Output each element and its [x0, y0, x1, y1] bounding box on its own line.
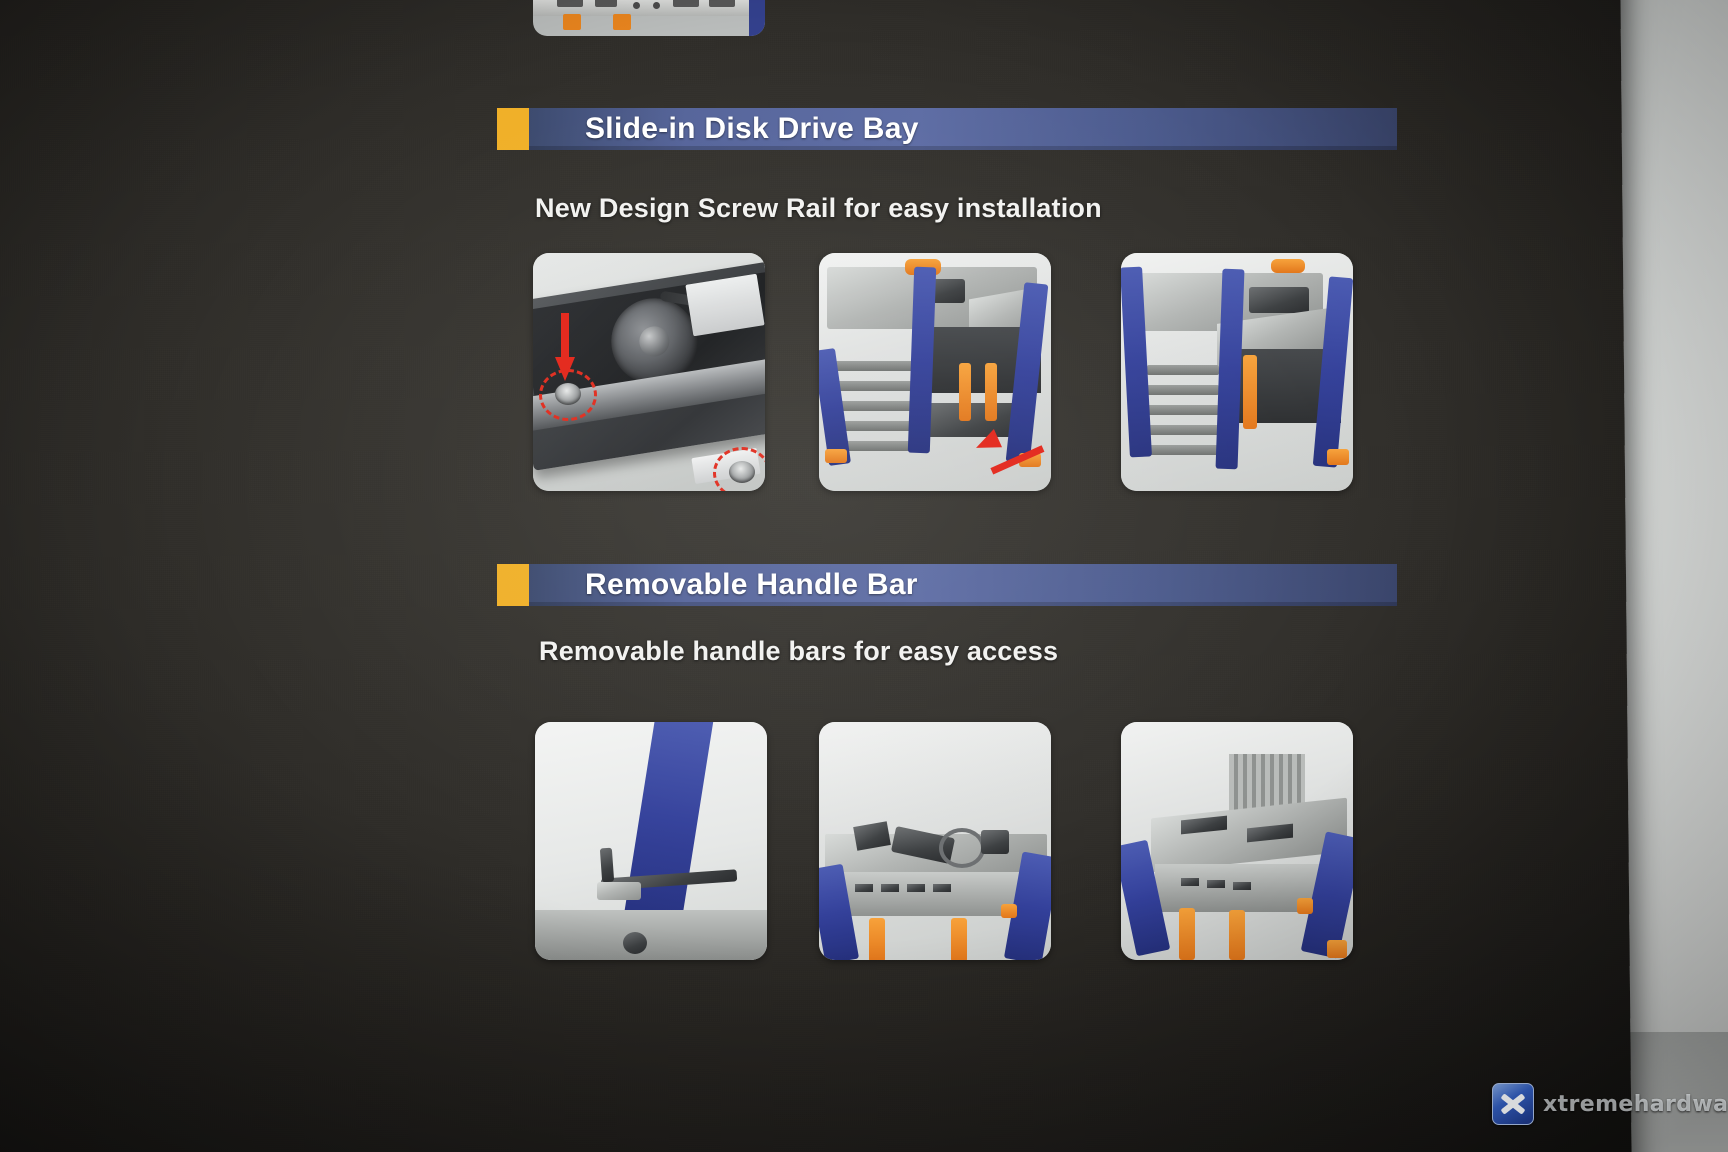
header-band: Removable Handle Bar — [529, 564, 1397, 606]
red-arrow-pointing-icon — [969, 429, 1041, 473]
orange-rail-tab — [613, 14, 631, 30]
photo-chassis-drive-inserted — [819, 253, 1051, 491]
orange-rail — [869, 918, 885, 960]
top-partial-photo — [533, 0, 765, 36]
panel-slot — [881, 884, 899, 892]
bay-slat — [1147, 445, 1219, 455]
photo-chassis-handles-attached — [819, 722, 1051, 960]
accent-square-icon — [497, 564, 529, 606]
panel-slot — [933, 884, 951, 892]
orange-rail — [1179, 908, 1195, 960]
panel-slot — [673, 0, 699, 7]
bay-slat — [835, 381, 913, 391]
hex-key-bend — [600, 848, 614, 883]
photo-hdd-screw-holes — [533, 253, 765, 491]
panel-cutout — [1249, 287, 1309, 313]
chassis-hole — [623, 932, 647, 954]
chassis-bracket — [981, 830, 1009, 854]
cable-loop — [939, 828, 985, 868]
section-header-removable-handle-bar: Removable Handle Bar — [497, 564, 1397, 606]
bay-slat — [835, 361, 913, 371]
section-caption-slide-in-disk-drive-bay: New Design Screw Rail for easy installat… — [535, 193, 1102, 224]
panel-slot — [709, 0, 735, 7]
photo-chassis-drive-seated — [1121, 253, 1353, 491]
red-arrow-down-icon — [555, 313, 575, 383]
bay-slat — [1147, 365, 1219, 375]
panel-slot — [1181, 878, 1199, 886]
photo-handle-bar-closeup — [535, 722, 767, 960]
blue-rail-edge — [749, 0, 765, 36]
orange-screw-rail — [959, 363, 971, 421]
orange-handle-top — [1271, 259, 1305, 273]
panel-slot — [557, 0, 583, 7]
orange-rail — [1229, 910, 1245, 960]
bay-slat — [835, 421, 913, 431]
brochure-content-column: Slide-in Disk Drive Bay New Design Screw… — [497, 0, 1427, 1152]
orange-screw-rail — [985, 363, 997, 421]
screw-highlight-circle-icon — [713, 447, 765, 491]
section-title: Removable Handle Bar — [585, 568, 918, 602]
chassis-surface — [535, 910, 767, 960]
panel-slot — [1233, 882, 1251, 890]
orange-screw-rail — [1243, 355, 1257, 429]
panel-slot — [1207, 880, 1225, 888]
section-caption-removable-handle-bar: Removable handle bars for easy access — [539, 636, 1058, 667]
panel-slot — [595, 0, 617, 7]
orange-clip — [1297, 898, 1313, 914]
watermark-text: xtremehardware.com — [1543, 1092, 1728, 1117]
photograph-frame: Slide-in Disk Drive Bay New Design Screw… — [0, 0, 1728, 1152]
orange-foot — [1327, 940, 1347, 958]
section-title: Slide-in Disk Drive Bay — [585, 112, 919, 146]
panel-hole — [633, 2, 640, 9]
orange-rail — [951, 918, 967, 960]
bay-slat — [1147, 405, 1219, 415]
orange-foot — [1327, 449, 1349, 465]
panel-slot — [907, 884, 925, 892]
orange-foot — [825, 449, 847, 463]
bay-slat — [1147, 425, 1219, 435]
panel-hole — [653, 2, 660, 9]
bay-slat — [1147, 385, 1219, 395]
watermark: xtremehardware.com — [1492, 1083, 1728, 1125]
handle-mount-bracket — [597, 882, 641, 900]
panel-slot — [855, 884, 873, 892]
section-header-slide-in-disk-drive-bay: Slide-in Disk Drive Bay — [497, 108, 1397, 150]
photo-chassis-handles-removed — [1121, 722, 1353, 960]
orange-clip — [1001, 904, 1017, 918]
orange-rail-tab — [563, 14, 581, 30]
bay-slat — [835, 401, 913, 411]
header-band: Slide-in Disk Drive Bay — [529, 108, 1397, 150]
accent-square-icon — [497, 108, 529, 150]
x-logo-icon — [1492, 1083, 1534, 1125]
drive-label — [685, 274, 764, 337]
